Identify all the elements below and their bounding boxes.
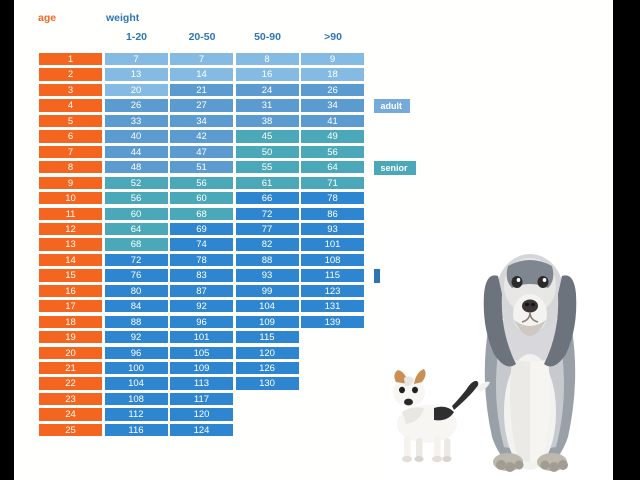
column-header-20-50: 20-50 bbox=[169, 31, 235, 43]
table-row-age-12: 12 bbox=[38, 222, 103, 236]
cell-1-20-age-8: 48 bbox=[104, 160, 169, 174]
cell-50-90-age-13: 82 bbox=[235, 237, 300, 251]
cell-20-50-age-12: 69 bbox=[169, 222, 234, 236]
cell-50-90-age-1: 8 bbox=[235, 52, 300, 66]
table-row-age-4: 4 bbox=[38, 98, 103, 112]
cell-20-50-age-20: 105 bbox=[169, 346, 234, 360]
cell-50-90-age-16: 99 bbox=[235, 284, 300, 298]
cell-20-50-age-7: 47 bbox=[169, 145, 234, 159]
cell->90-age-12: 93 bbox=[300, 222, 365, 236]
age-header-label: age bbox=[38, 12, 56, 24]
cell-1-20-age-18: 88 bbox=[104, 315, 169, 329]
cell-1-20-age-25: 116 bbox=[104, 423, 169, 437]
table-row-age-6: 6 bbox=[38, 129, 103, 143]
cell-1-20-age-3: 20 bbox=[104, 83, 169, 97]
cell-20-50-age-17: 92 bbox=[169, 299, 234, 313]
dog-photo bbox=[380, 232, 613, 480]
table-row-age-5: 5 bbox=[38, 114, 103, 128]
table-row-age-20: 20 bbox=[38, 346, 103, 360]
cell->90-age-8: 64 bbox=[300, 160, 365, 174]
cell-1-20-age-16: 80 bbox=[104, 284, 169, 298]
cell-50-90-age-9: 61 bbox=[235, 176, 300, 190]
cell-1-20-age-13: 68 bbox=[104, 237, 169, 251]
table-row-age-14: 14 bbox=[38, 253, 103, 267]
cell->90-age-14: 108 bbox=[300, 253, 365, 267]
table-row-age-3: 3 bbox=[38, 83, 103, 97]
cell-20-50-age-5: 34 bbox=[169, 114, 234, 128]
table-row-age-9: 9 bbox=[38, 176, 103, 190]
cell-1-20-age-20: 96 bbox=[104, 346, 169, 360]
cell->90-age-13: 101 bbox=[300, 237, 365, 251]
cell-20-50-age-1: 7 bbox=[169, 52, 234, 66]
cell-1-20-age-9: 52 bbox=[104, 176, 169, 190]
table-row-age-24: 24 bbox=[38, 407, 103, 421]
cell-50-90-age-6: 45 bbox=[235, 129, 300, 143]
dog-photo-svg bbox=[380, 232, 613, 480]
cell-50-90-age-20: 120 bbox=[235, 346, 300, 360]
cell->90-age-17: 131 bbox=[300, 299, 365, 313]
cell-50-90-age-21: 126 bbox=[235, 361, 300, 375]
cell-20-50-age-19: 101 bbox=[169, 330, 234, 344]
cell-50-90-age-5: 38 bbox=[235, 114, 300, 128]
cell-50-90-age-11: 72 bbox=[235, 207, 300, 221]
cell-20-50-age-13: 74 bbox=[169, 237, 234, 251]
cell-1-20-age-12: 64 bbox=[104, 222, 169, 236]
cell-20-50-age-24: 120 bbox=[169, 407, 234, 421]
cell->90-age-11: 86 bbox=[300, 207, 365, 221]
cell->90-age-9: 71 bbox=[300, 176, 365, 190]
cell-20-50-age-18: 96 bbox=[169, 315, 234, 329]
cell-20-50-age-22: 113 bbox=[169, 376, 234, 390]
cell-20-50-age-23: 117 bbox=[169, 392, 234, 406]
cell-50-90-age-8: 55 bbox=[235, 160, 300, 174]
table-row-age-19: 19 bbox=[38, 330, 103, 344]
cell-50-90-age-22: 130 bbox=[235, 376, 300, 390]
cell->90-age-18: 139 bbox=[300, 315, 365, 329]
cell-1-20-age-21: 100 bbox=[104, 361, 169, 375]
table-row-age-2: 2 bbox=[38, 67, 103, 81]
cell->90-age-5: 41 bbox=[300, 114, 365, 128]
cell-1-20-age-23: 108 bbox=[104, 392, 169, 406]
slide-canvas: age weight 1-2020-5050-90>90 17789213141… bbox=[14, 0, 613, 480]
cell-50-90-age-10: 66 bbox=[235, 191, 300, 205]
table-row-age-8: 8 bbox=[38, 160, 103, 174]
cell-20-50-age-21: 109 bbox=[169, 361, 234, 375]
cell->90-age-4: 34 bbox=[300, 98, 365, 112]
cell-1-20-age-17: 84 bbox=[104, 299, 169, 313]
cell->90-age-10: 78 bbox=[300, 191, 365, 205]
cell-1-20-age-11: 60 bbox=[104, 207, 169, 221]
stage-label-senior: senior bbox=[374, 161, 416, 175]
cell-1-20-age-1: 7 bbox=[104, 52, 169, 66]
table-row-age-21: 21 bbox=[38, 361, 103, 375]
cell-1-20-age-2: 13 bbox=[104, 67, 169, 81]
cell-1-20-age-5: 33 bbox=[104, 114, 169, 128]
column-header->90: >90 bbox=[300, 31, 366, 43]
table-row-age-22: 22 bbox=[38, 376, 103, 390]
cell-20-50-age-25: 124 bbox=[169, 423, 234, 437]
cell-50-90-age-2: 16 bbox=[235, 67, 300, 81]
cell-50-90-age-3: 24 bbox=[235, 83, 300, 97]
cell-1-20-age-14: 72 bbox=[104, 253, 169, 267]
cell-50-90-age-4: 31 bbox=[235, 98, 300, 112]
cell-1-20-age-4: 26 bbox=[104, 98, 169, 112]
cell-20-50-age-11: 68 bbox=[169, 207, 234, 221]
table-row-age-15: 15 bbox=[38, 268, 103, 282]
table-row-age-23: 23 bbox=[38, 392, 103, 406]
cell-1-20-age-22: 104 bbox=[104, 376, 169, 390]
cell-20-50-age-4: 27 bbox=[169, 98, 234, 112]
cell-50-90-age-14: 88 bbox=[235, 253, 300, 267]
table-row-age-18: 18 bbox=[38, 315, 103, 329]
cell->90-age-1: 9 bbox=[300, 52, 365, 66]
table-row-age-10: 10 bbox=[38, 191, 103, 205]
table-row-age-11: 11 bbox=[38, 207, 103, 221]
cell-50-90-age-19: 115 bbox=[235, 330, 300, 344]
cell-20-50-age-8: 51 bbox=[169, 160, 234, 174]
weight-header-label: weight bbox=[106, 12, 139, 24]
cell-1-20-age-19: 92 bbox=[104, 330, 169, 344]
cell->90-age-3: 26 bbox=[300, 83, 365, 97]
cell-20-50-age-9: 56 bbox=[169, 176, 234, 190]
cell-20-50-age-6: 42 bbox=[169, 129, 234, 143]
cell-50-90-age-18: 109 bbox=[235, 315, 300, 329]
large-dog-illustration bbox=[484, 254, 577, 472]
column-header-50-90: 50-90 bbox=[235, 31, 301, 43]
table-row-age-1: 1 bbox=[38, 52, 103, 66]
column-header-1-20: 1-20 bbox=[104, 31, 170, 43]
table-row-age-17: 17 bbox=[38, 299, 103, 313]
cell-20-50-age-2: 14 bbox=[169, 67, 234, 81]
cell-20-50-age-15: 83 bbox=[169, 268, 234, 282]
cell-50-90-age-17: 104 bbox=[235, 299, 300, 313]
cell-1-20-age-24: 112 bbox=[104, 407, 169, 421]
table-row-age-16: 16 bbox=[38, 284, 103, 298]
table-row-age-7: 7 bbox=[38, 145, 103, 159]
cell-1-20-age-6: 40 bbox=[104, 129, 169, 143]
cell-20-50-age-10: 60 bbox=[169, 191, 234, 205]
cell-50-90-age-12: 77 bbox=[235, 222, 300, 236]
cell-20-50-age-16: 87 bbox=[169, 284, 234, 298]
cell-1-20-age-15: 76 bbox=[104, 268, 169, 282]
cell-20-50-age-3: 21 bbox=[169, 83, 234, 97]
cell->90-age-7: 56 bbox=[300, 145, 365, 159]
table-row-age-13: 13 bbox=[38, 237, 103, 251]
stage-label-adult: adult bbox=[374, 99, 411, 113]
cell->90-age-2: 18 bbox=[300, 67, 365, 81]
cell->90-age-15: 115 bbox=[300, 268, 365, 282]
cell-20-50-age-14: 78 bbox=[169, 253, 234, 267]
table-row-age-25: 25 bbox=[38, 423, 103, 437]
cell-1-20-age-7: 44 bbox=[104, 145, 169, 159]
cell-1-20-age-10: 56 bbox=[104, 191, 169, 205]
cell-50-90-age-7: 50 bbox=[235, 145, 300, 159]
cell->90-age-16: 123 bbox=[300, 284, 365, 298]
cell-50-90-age-15: 93 bbox=[235, 268, 300, 282]
cell->90-age-6: 49 bbox=[300, 129, 365, 143]
